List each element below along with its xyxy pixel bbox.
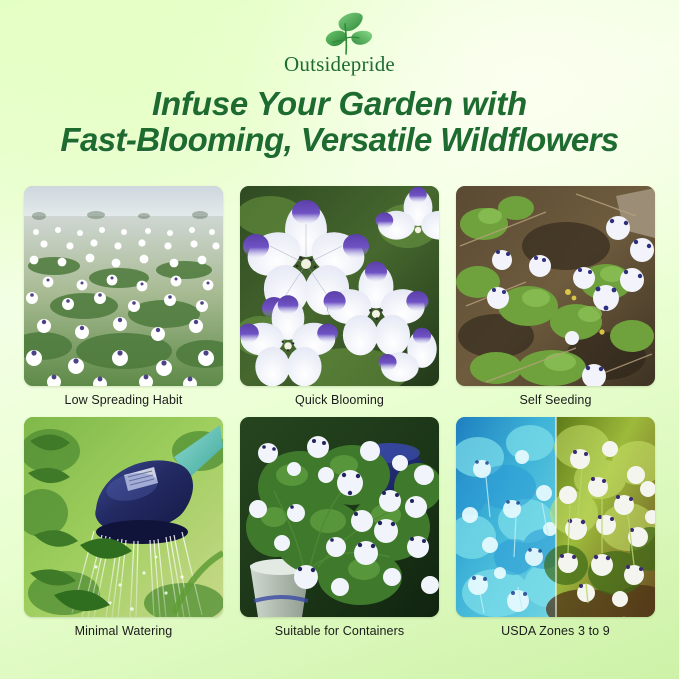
feature-item-minimal-watering: Minimal Watering [24,417,223,638]
brand-logo: Outsidepride [0,10,679,77]
page-title: Infuse Your Garden with Fast-Blooming, V… [0,86,679,158]
feature-caption-minimal-watering: Minimal Watering [24,624,223,638]
feature-image-usda-zones [456,417,655,617]
feature-caption-low-spreading-habit: Low Spreading Habit [24,393,223,407]
leaf-sprig-icon [301,10,379,56]
feature-image-quick-blooming [240,186,439,386]
feature-row-top: Low Spreading Habit [0,186,679,407]
feature-caption-self-seeding: Self Seeding [456,393,655,407]
feature-item-self-seeding: Self Seeding [456,186,655,407]
feature-item-suitable-for-containers: Suitable for Containers [240,417,439,638]
feature-row-bottom: Minimal Watering [0,417,679,638]
headline-line-1: Infuse Your Garden with [0,86,679,122]
feature-image-suitable-for-containers [240,417,439,617]
feature-item-usda-zones: USDA Zones 3 to 9 [456,417,655,638]
feature-image-low-spreading-habit [24,186,223,386]
feature-image-minimal-watering [24,417,223,617]
feature-image-self-seeding [456,186,655,386]
feature-caption-usda-zones: USDA Zones 3 to 9 [456,624,655,638]
feature-grid: Low Spreading Habit [0,186,679,638]
infographic-canvas: Outsidepride Infuse Your Garden with Fas… [0,0,679,679]
headline-line-2: Fast-Blooming, Versatile Wildflowers [0,122,679,158]
feature-caption-suitable-for-containers: Suitable for Containers [240,624,439,638]
brand-wordmark: Outsidepride [0,52,679,77]
feature-caption-quick-blooming: Quick Blooming [240,393,439,407]
feature-item-quick-blooming: Quick Blooming [240,186,439,407]
feature-item-low-spreading-habit: Low Spreading Habit [24,186,223,407]
